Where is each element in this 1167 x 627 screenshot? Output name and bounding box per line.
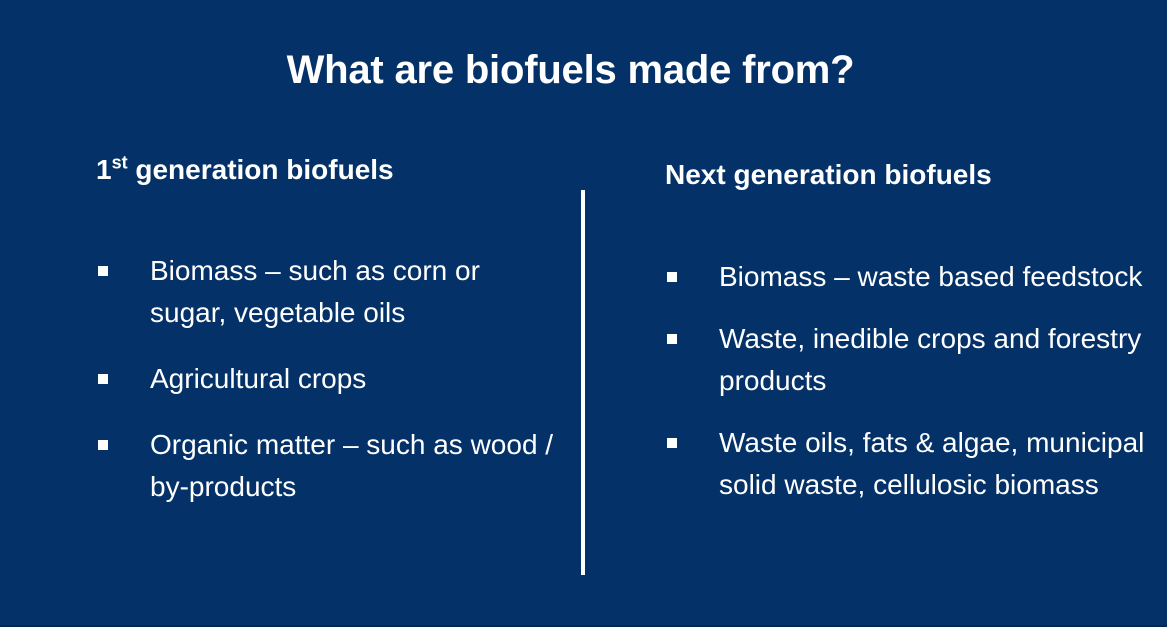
column-next-generation: Next generation biofuels Biomass – waste… <box>581 0 1167 627</box>
heading-first-generation-ordinal-suffix: st <box>112 153 128 173</box>
square-bullet-icon <box>667 334 677 344</box>
list-item: Biomass – waste based feedstock <box>665 256 1155 298</box>
bullet-list-next-generation: Biomass – waste based feedstock Waste, i… <box>665 256 1155 526</box>
heading-next-generation: Next generation biofuels <box>665 158 992 192</box>
list-item-label: Organic matter – such as wood / by-produ… <box>150 424 556 508</box>
square-bullet-icon <box>667 272 677 282</box>
list-item: Agricultural crops <box>96 358 556 400</box>
square-bullet-icon <box>98 440 108 450</box>
list-item-label: Waste oils, fats & algae, municipal soli… <box>719 422 1155 506</box>
column-first-generation: 1st generation biofuels Biomass – such a… <box>0 0 581 627</box>
heading-first-generation-number: 1 <box>96 154 112 185</box>
square-bullet-icon <box>98 374 108 384</box>
bullet-list-first-generation: Biomass – such as corn or sugar, vegetab… <box>96 250 556 532</box>
heading-first-generation: 1st generation biofuels <box>96 153 394 187</box>
square-bullet-icon <box>667 438 677 448</box>
list-item-label: Biomass – such as corn or sugar, vegetab… <box>150 250 556 334</box>
heading-first-generation-rest: generation biofuels <box>128 154 394 185</box>
list-item-label: Agricultural crops <box>150 358 556 400</box>
list-item: Waste, inedible crops and forestry produ… <box>665 318 1155 402</box>
slide-canvas: What are biofuels made from? 1st generat… <box>0 0 1167 627</box>
square-bullet-icon <box>98 266 108 276</box>
list-item: Biomass – such as corn or sugar, vegetab… <box>96 250 556 334</box>
list-item: Waste oils, fats & algae, municipal soli… <box>665 422 1155 506</box>
list-item: Organic matter – such as wood / by-produ… <box>96 424 556 508</box>
list-item-label: Biomass – waste based feedstock <box>719 256 1155 298</box>
list-item-label: Waste, inedible crops and forestry produ… <box>719 318 1155 402</box>
